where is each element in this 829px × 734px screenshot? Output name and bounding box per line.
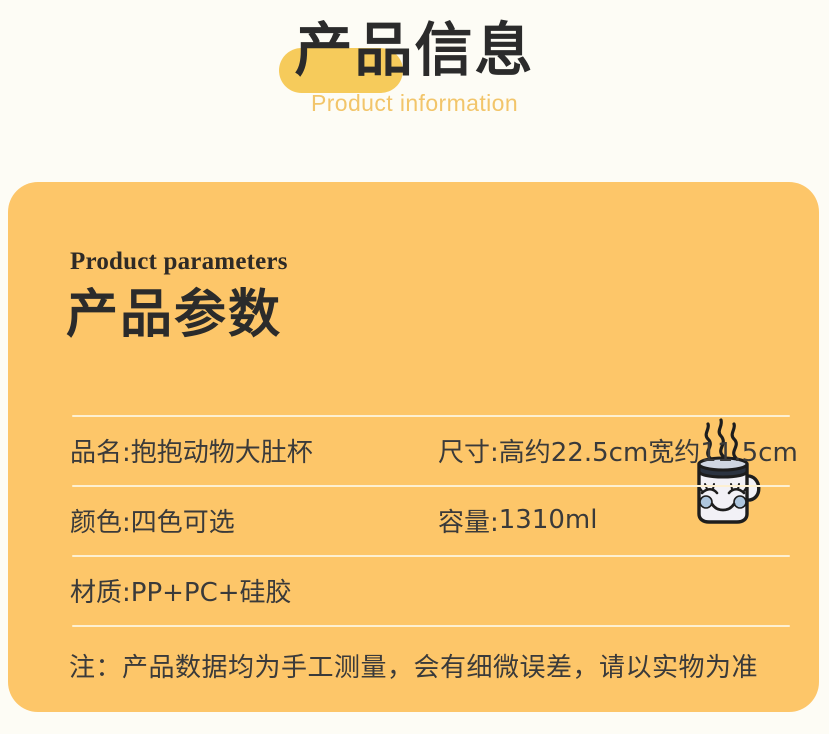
spec-row: 品名: 抱抱动物大肚杯 尺寸: 高约22.5cm宽约11.5cm (8, 415, 819, 485)
spec-row: 颜色: 四色可选 容量: 1310ml (8, 485, 819, 555)
spec-value: 四色可选 (131, 502, 235, 539)
spec-row: 材质: PP+PC+硅胶 (8, 555, 819, 625)
spec-value: 1310ml (499, 505, 598, 535)
card-heading-label: 产品参数 (66, 284, 282, 346)
spec-cell-material: 材质: PP+PC+硅胶 (70, 555, 292, 625)
title-wrap: 产品信息 (0, 14, 829, 90)
spec-cell-size: 尺寸: 高约22.5cm宽约11.5cm (438, 415, 798, 485)
note-row: 注：产品数据均为手工测量，会有细微误差，请以实物为准 (8, 625, 819, 705)
page-header: 产品信息 Product information (0, 0, 829, 170)
spec-value: 高约22.5cm宽约11.5cm (499, 432, 798, 469)
spec-label: 材质: (70, 572, 131, 609)
product-parameters-card: Product parameters 产品参数 (8, 182, 819, 712)
measurement-note: 注：产品数据均为手工测量，会有细微误差，请以实物为准 (69, 647, 758, 684)
spec-value: 抱抱动物大肚杯 (131, 432, 313, 469)
spec-label: 尺寸: (438, 432, 499, 469)
page-title: 产品信息 (294, 14, 534, 86)
page-subtitle: Product information (0, 90, 829, 117)
spec-label: 颜色: (70, 502, 131, 539)
spec-cell-capacity: 容量: 1310ml (438, 485, 597, 555)
card-eyebrow-label: Product parameters (70, 248, 288, 276)
spec-cell-product-name: 品名: 抱抱动物大肚杯 (70, 415, 313, 485)
spec-label: 品名: (70, 432, 131, 469)
spec-label: 容量: (438, 502, 499, 539)
spec-value: PP+PC+硅胶 (131, 572, 292, 609)
spec-cell-color: 颜色: 四色可选 (70, 485, 235, 555)
